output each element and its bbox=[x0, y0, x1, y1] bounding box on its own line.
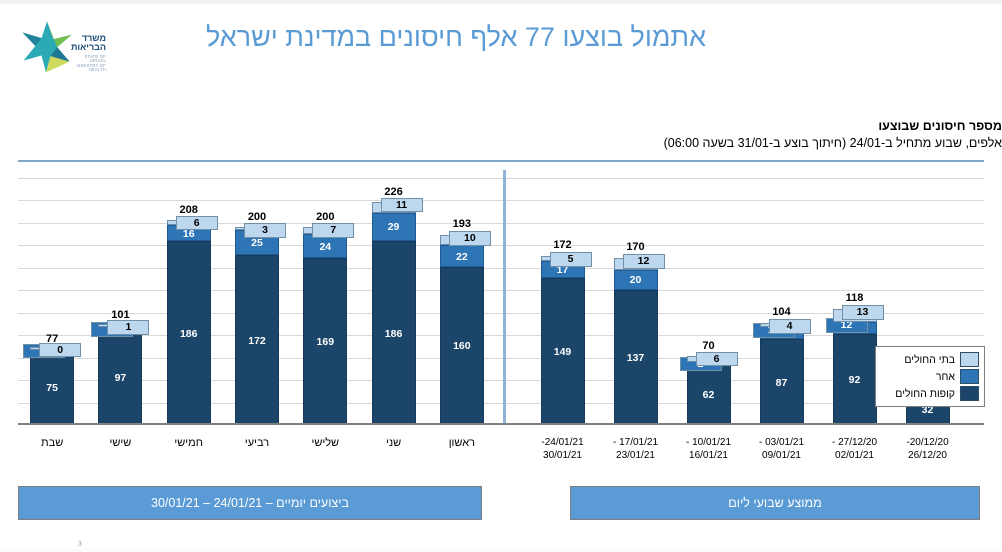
bar-column[interactable]: 169247200 bbox=[303, 227, 347, 425]
segment-value-label: 17 bbox=[542, 265, 584, 276]
bar-segment[interactable]: 12 bbox=[760, 327, 804, 339]
bar-total-label: 101 bbox=[84, 309, 156, 321]
segment-value-label: 20 bbox=[615, 275, 657, 286]
bar-column[interactable]: 1862911226 bbox=[372, 202, 416, 425]
slide: משרד הבריאות STATE OF ISRAEL MINISTRY OF… bbox=[0, 0, 1002, 552]
bar-segment[interactable]: 5 bbox=[541, 256, 585, 261]
bar-segment[interactable]: 137 bbox=[614, 290, 658, 425]
bar-segment[interactable]: 62 bbox=[687, 364, 731, 425]
segment-value-label: 172 bbox=[236, 336, 278, 347]
legend-item-hosp[interactable]: בתי החולים bbox=[881, 351, 979, 368]
bar-total-label: 172 bbox=[527, 239, 599, 251]
segment-value-label: 137 bbox=[615, 353, 657, 364]
segment-value-label: 12 bbox=[623, 254, 665, 269]
segment-value-label: 75 bbox=[31, 383, 73, 394]
slide-header: משרד הבריאות STATE OF ISRAEL MINISTRY OF… bbox=[0, 4, 1002, 86]
bar-segment[interactable]: 169 bbox=[303, 258, 347, 425]
bar-segment[interactable]: 186 bbox=[167, 241, 211, 425]
segment-value-label: 149 bbox=[542, 347, 584, 358]
bar-segment[interactable]: 186 bbox=[372, 241, 416, 425]
bar-total-label: 170 bbox=[600, 241, 672, 253]
segment-value-label: 13 bbox=[842, 305, 884, 320]
segment-value-label: 11 bbox=[381, 198, 423, 213]
page-title: אתמול בוצעו 77 אלף חיסונים במדינת ישראל bbox=[20, 22, 892, 53]
segment-value-label: 169 bbox=[304, 337, 346, 348]
vaccination-stacked-bar-chart: 7510779721101186166208172253200169247200… bbox=[18, 170, 984, 435]
bar-total-label: 118 bbox=[819, 292, 891, 304]
bars-layer: 7510779721101186166208172253200169247200… bbox=[18, 178, 984, 425]
chart-subtitle-block: מספר חיסונים שבוצעו אלפים, שבוע מתחיל ב-… bbox=[12, 118, 1002, 152]
segment-value-label: 25 bbox=[236, 238, 278, 249]
segment-value-label: 97 bbox=[99, 373, 141, 384]
bar-column[interactable]: 1602210193 bbox=[440, 234, 484, 425]
x-label-date-range: 03/01/21 - 09/01/21 bbox=[745, 437, 818, 462]
banner-weekly-average[interactable]: ממוצע שבועי ליום bbox=[570, 486, 980, 520]
bar-column[interactable]: 149175172 bbox=[541, 255, 585, 425]
bar-column[interactable]: 172253200 bbox=[235, 227, 279, 425]
x-label-date-range: 17/01/21 - 23/01/21 bbox=[599, 437, 672, 462]
x-label-weekday: רביעי bbox=[223, 437, 291, 451]
legend-label-kupot: קופות החולים bbox=[895, 388, 955, 400]
banner-daily-performance[interactable]: ביצועים יומיים – 24/01/21 – 30/01/21 bbox=[18, 486, 482, 520]
bar-segment[interactable]: 149 bbox=[541, 278, 585, 425]
bar-total-label: 77 bbox=[16, 333, 88, 345]
segment-value-label: 87 bbox=[761, 378, 803, 389]
segment-value-label: 160 bbox=[441, 341, 483, 352]
bar-segment[interactable]: 17 bbox=[541, 261, 585, 278]
bar-segment[interactable]: 11 bbox=[372, 202, 416, 213]
bar-segment[interactable]: 20 bbox=[614, 270, 658, 290]
chart-title-text: מספר חיסונים שבוצעו bbox=[20, 118, 1002, 135]
x-axis-labels: שבתשישיחמישירביעישלישישניראשון24/01/21- … bbox=[18, 437, 984, 477]
bar-total-label: 104 bbox=[746, 306, 818, 318]
x-label-weekday: חמישי bbox=[155, 437, 223, 451]
bar-segment[interactable]: 12 bbox=[833, 322, 877, 334]
bar-segment[interactable]: 97 bbox=[98, 329, 142, 425]
bar-segment[interactable]: 25 bbox=[235, 230, 279, 255]
bar-segment[interactable]: 4 bbox=[760, 323, 804, 327]
bar-segment[interactable]: 22 bbox=[440, 245, 484, 267]
segment-value-label: 92 bbox=[834, 375, 876, 386]
bar-segment[interactable]: 75 bbox=[30, 351, 74, 425]
bar-column[interactable]: 9721101 bbox=[98, 325, 142, 425]
bar-segment[interactable]: 3 bbox=[235, 227, 279, 230]
bar-segment[interactable]: 160 bbox=[440, 267, 484, 425]
bar-total-label: 200 bbox=[221, 211, 293, 223]
x-label-date-range: 24/01/21- 30/01/21 bbox=[526, 437, 599, 462]
bar-segment[interactable]: 16 bbox=[167, 225, 211, 241]
segment-value-label: 10 bbox=[449, 231, 491, 246]
bar-segment[interactable]: 172 bbox=[235, 255, 279, 425]
bar-column[interactable]: 87124104 bbox=[760, 322, 804, 425]
plot-area: 7510779721101186166208172253200169247200… bbox=[18, 178, 984, 425]
bar-segment[interactable]: 7 bbox=[303, 227, 347, 234]
bar-segment[interactable]: 87 bbox=[760, 339, 804, 425]
bar-column[interactable]: 921213118 bbox=[833, 308, 877, 425]
legend-swatch-hosp bbox=[960, 352, 979, 367]
bar-segment[interactable]: 1 bbox=[98, 324, 142, 327]
header-divider bbox=[18, 160, 984, 162]
bar-segment[interactable]: 6 bbox=[687, 356, 731, 362]
bar-total-label: 70 bbox=[673, 340, 745, 352]
chart-legend: בתי החולים אחר קופות החולים bbox=[875, 346, 985, 407]
segment-value-label: 62 bbox=[688, 390, 730, 401]
legend-label-other: אחר bbox=[936, 371, 955, 383]
x-label-weekday: שישי bbox=[86, 437, 154, 451]
bar-column[interactable]: 1372012170 bbox=[614, 257, 658, 425]
x-label-date-range: 27/12/20 - 02/01/21 bbox=[818, 437, 891, 462]
x-label-weekday: שבת bbox=[18, 437, 86, 451]
segment-value-label: 29 bbox=[373, 222, 415, 233]
bar-total-label: 226 bbox=[358, 186, 430, 198]
legend-label-hosp: בתי החולים bbox=[904, 354, 955, 366]
legend-swatch-other bbox=[960, 369, 979, 384]
bar-segment[interactable]: 24 bbox=[303, 234, 347, 258]
segment-value-label: 16 bbox=[168, 229, 210, 240]
bar-segment[interactable]: 92 bbox=[833, 334, 877, 425]
legend-swatch-kupot bbox=[960, 386, 979, 401]
bar-segment[interactable]: 12 bbox=[614, 258, 658, 270]
x-label-date-range: 10/01/21 - 16/01/21 bbox=[672, 437, 745, 462]
segment-value-label: 186 bbox=[168, 329, 210, 340]
x-label-date-range: 20/12/20- 26/12/20 bbox=[891, 437, 964, 462]
x-label-weekday: שלישי bbox=[291, 437, 359, 451]
x-label-weekday: שני bbox=[359, 437, 427, 451]
x-label-weekday: ראשון bbox=[428, 437, 496, 451]
page-number: 3 bbox=[78, 541, 82, 548]
bar-column[interactable]: 186166208 bbox=[167, 220, 211, 426]
bar-column[interactable]: 622670 bbox=[687, 356, 731, 425]
x-axis-line bbox=[18, 423, 984, 425]
bar-column[interactable]: 751077 bbox=[30, 349, 74, 425]
segment-value-label: 22 bbox=[441, 252, 483, 263]
group-divider bbox=[503, 170, 506, 425]
bar-segment[interactable]: 13 bbox=[833, 309, 877, 322]
bar-segment[interactable]: 10 bbox=[440, 235, 484, 245]
logo-subtext: STATE OF ISRAEL MINISTRY OF HEALTH bbox=[70, 55, 106, 73]
segment-value-label: 24 bbox=[304, 242, 346, 253]
bar-total-label: 200 bbox=[289, 211, 361, 223]
legend-item-kupot[interactable]: קופות החולים bbox=[881, 385, 979, 402]
bar-total-label: 208 bbox=[153, 204, 225, 216]
bar-segment[interactable]: 0 bbox=[30, 347, 74, 350]
bar-total-label: 193 bbox=[426, 218, 498, 230]
bar-segment[interactable]: 29 bbox=[372, 213, 416, 242]
bar-segment[interactable]: 6 bbox=[167, 220, 211, 226]
segment-value-label: 186 bbox=[373, 329, 415, 340]
legend-item-other[interactable]: אחר bbox=[881, 368, 979, 385]
chart-subtitle-text: אלפים, שבוע מתחיל ב-24/01 (חיתוך בוצע ב-… bbox=[20, 135, 1002, 152]
